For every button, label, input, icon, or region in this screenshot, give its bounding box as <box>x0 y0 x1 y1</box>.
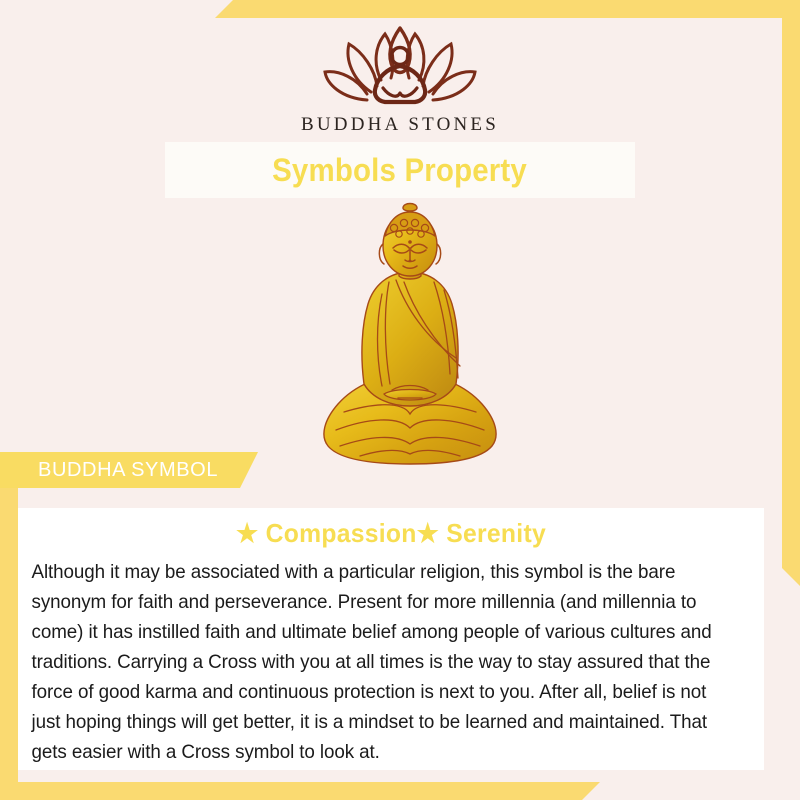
decorative-frame-bottom <box>0 782 600 800</box>
brand-logo: BUDDHA STONES <box>0 22 800 136</box>
lotus-meditation-icon <box>315 22 485 110</box>
infographic-page: BUDDHA STONES Symbols Property <box>0 0 800 800</box>
content-headline: ★ Compassion★ Serenity <box>37 508 746 549</box>
brand-wordmark: BUDDHA STONES <box>0 114 800 136</box>
buddha-symbol-ribbon: BUDDHA SYMBOL <box>0 452 258 488</box>
decorative-frame-top <box>215 0 800 18</box>
ribbon-label: BUDDHA SYMBOL <box>38 459 218 482</box>
seated-golden-buddha-icon <box>310 198 510 498</box>
content-card: ★ Compassion★ Serenity Although it may b… <box>18 508 764 770</box>
page-title: Symbols Property <box>273 152 528 189</box>
decorative-frame-left <box>0 455 18 782</box>
content-body: Although it may be associated with a par… <box>18 549 738 767</box>
title-banner: Symbols Property <box>165 142 635 198</box>
buddha-illustration <box>310 198 510 498</box>
